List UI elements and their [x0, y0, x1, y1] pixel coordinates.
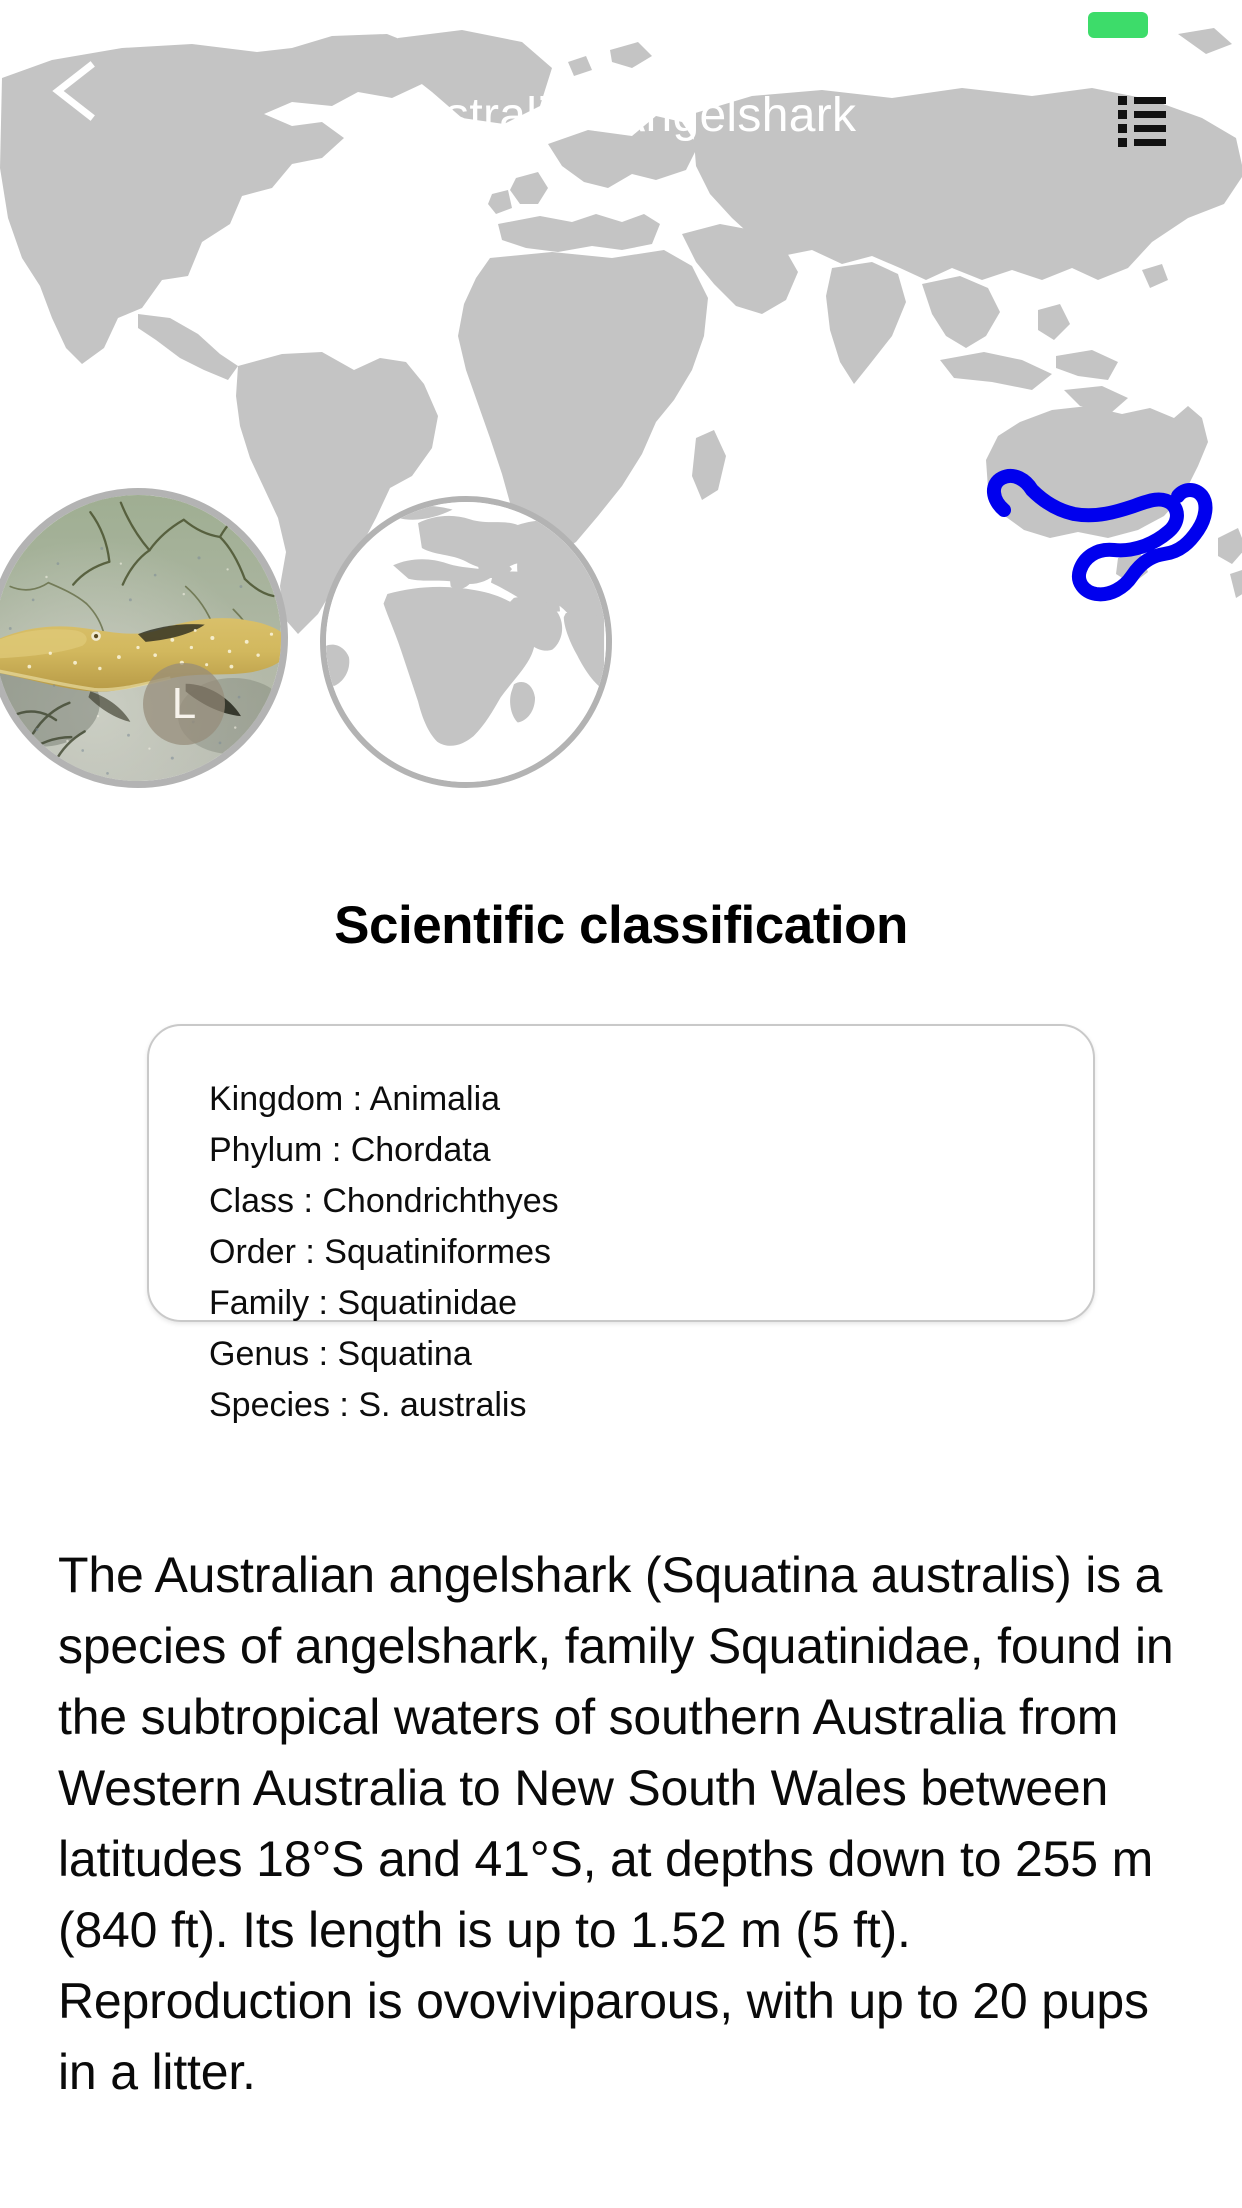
menu-bar — [1134, 111, 1166, 118]
classification-separator: : — [294, 1182, 322, 1220]
back-button[interactable] — [38, 52, 114, 130]
species-description: The Australian angelshark (Squatina aust… — [58, 1540, 1188, 2108]
classification-row: Order : Squatiniformes — [209, 1227, 1093, 1278]
classification-row: Phylum : Chordata — [209, 1125, 1093, 1176]
classification-value: Chordata — [351, 1131, 491, 1169]
photo-label-badge: L — [143, 663, 225, 745]
classification-value: Squatina — [338, 1335, 472, 1373]
status-indicator-pill — [1088, 12, 1148, 38]
species-detail-screen: Australian Angelshark — [0, 0, 1242, 2208]
scientific-classification-heading: Scientific classification — [0, 895, 1242, 956]
classification-rank: Phylum — [209, 1131, 322, 1169]
menu-bullet — [1118, 124, 1127, 133]
menu-bullet — [1118, 138, 1127, 147]
classification-rank: Order — [209, 1233, 296, 1271]
menu-bar — [1134, 139, 1166, 146]
classification-value: Squatiniformes — [324, 1233, 551, 1271]
map-hero: Australian Angelshark — [0, 0, 1242, 790]
classification-value: Animalia — [370, 1080, 500, 1118]
species-photo-thumbnail[interactable]: L — [0, 488, 288, 788]
menu-bullet — [1118, 96, 1127, 105]
classification-separator: : — [343, 1080, 369, 1118]
classification-separator: : — [309, 1284, 337, 1322]
list-menu-icon[interactable] — [1118, 96, 1168, 142]
classification-rank: Kingdom — [209, 1080, 343, 1118]
classification-rank: Class — [209, 1182, 294, 1220]
menu-bar — [1134, 125, 1166, 132]
menu-row — [1118, 124, 1168, 133]
classification-row: Species : S. australis — [209, 1380, 1093, 1431]
classification-row: Family : Squatinidae — [209, 1278, 1093, 1329]
menu-bullet — [1118, 110, 1127, 119]
classification-rank: Species — [209, 1386, 330, 1424]
species-photo-image — [0, 495, 281, 781]
classification-row: Genus : Squatina — [209, 1329, 1093, 1380]
menu-row — [1118, 138, 1168, 147]
menu-row — [1118, 110, 1168, 119]
classification-separator: : — [322, 1131, 350, 1169]
classification-rank: Genus — [209, 1335, 309, 1373]
classification-separator: : — [309, 1335, 337, 1373]
classification-row: Class : Chondrichthyes — [209, 1176, 1093, 1227]
classification-rank: Family — [209, 1284, 309, 1322]
classification-separator: : — [296, 1233, 324, 1271]
classification-card: Kingdom : Animalia Phylum : Chordata Cla… — [147, 1024, 1095, 1322]
classification-separator: : — [330, 1386, 358, 1424]
page-title: Australian Angelshark — [0, 88, 1242, 143]
classification-value: Chondrichthyes — [322, 1182, 558, 1220]
classification-row: Kingdom : Animalia — [209, 1074, 1093, 1125]
menu-row — [1118, 96, 1168, 105]
classification-value: S. australis — [358, 1386, 526, 1424]
globe-thumbnail[interactable] — [320, 496, 612, 788]
classification-value: Squatinidae — [337, 1284, 517, 1322]
globe-image — [326, 502, 606, 782]
menu-bar — [1134, 97, 1166, 104]
